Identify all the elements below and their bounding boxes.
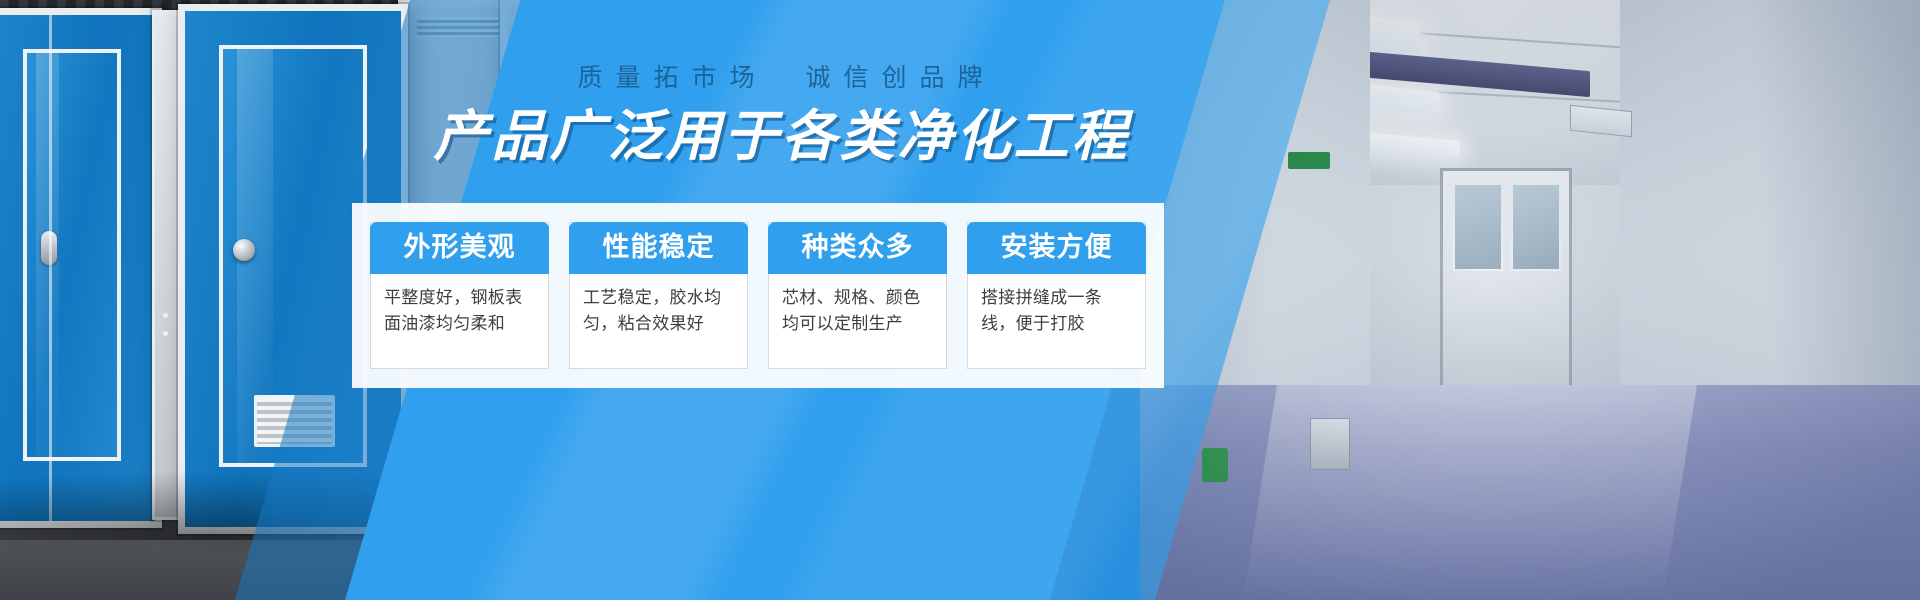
banner-title: 产品广泛用于各类净化工程 (0, 103, 1560, 169)
feature-card-2-heading: 性能稳定 (569, 222, 748, 274)
rivet (163, 313, 168, 318)
feature-card-4-body: 搭接拼缝成一条线，便于打胶 (968, 274, 1145, 368)
feature-card-2[interactable]: 性能稳定 工艺稳定，胶水均匀，粘合效果好 (569, 222, 748, 369)
feature-card-1-body: 平整度好，钢板表面油漆均匀柔和 (371, 274, 548, 368)
feature-card-1[interactable]: 外形美观 平整度好，钢板表面油漆均匀柔和 (370, 222, 549, 369)
feature-cards: 外形美观 平整度好，钢板表面油漆均匀柔和 性能稳定 工艺稳定，胶水均匀，粘合效果… (352, 203, 1164, 388)
headline-group: 质量拓市场 诚信创品牌 产品广泛用于各类净化工程 (0, 62, 1560, 169)
rivet (163, 331, 168, 336)
banner-subtitle: 质量拓市场 诚信创品牌 (0, 62, 1560, 93)
feature-card-3-heading: 种类众多 (768, 222, 947, 274)
feature-card-3[interactable]: 种类众多 芯材、规格、颜色均可以定制生产 (768, 222, 947, 369)
feature-card-1-heading: 外形美观 (370, 222, 549, 274)
feature-card-3-body: 芯材、规格、颜色均可以定制生产 (769, 274, 946, 368)
feature-card-4-heading: 安装方便 (967, 222, 1146, 274)
feature-card-4[interactable]: 安装方便 搭接拼缝成一条线，便于打胶 (967, 222, 1146, 369)
feature-card-2-body: 工艺稳定，胶水均匀，粘合效果好 (570, 274, 747, 368)
promo-banner: 质量拓市场 诚信创品牌 产品广泛用于各类净化工程 外形美观 平整度好，钢板表面油… (0, 0, 1920, 600)
